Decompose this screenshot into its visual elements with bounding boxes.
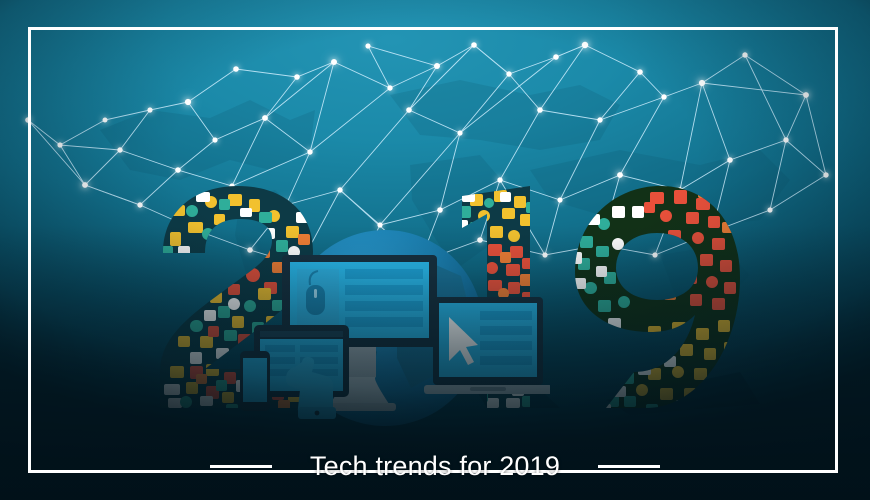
hand-pointer-icon (286, 357, 336, 419)
vignette-overlay (0, 0, 870, 500)
tablet-device (254, 325, 349, 397)
year-2019-icon-mosaic (0, 0, 870, 500)
globe-illustration (285, 228, 485, 428)
caption-rule-right (598, 465, 660, 468)
decorative-border-frame (28, 27, 838, 473)
caption-rule-left (210, 465, 272, 468)
tech-trends-banner: Tech trends for 2019 (0, 0, 870, 500)
caption-bar: Tech trends for 2019 (0, 446, 870, 486)
laptop-device (424, 297, 550, 394)
network-constellation (0, 0, 870, 320)
digit-2 (150, 180, 330, 415)
digit-1 (455, 180, 545, 415)
page-title: Tech trends for 2019 (310, 451, 560, 482)
desktop-monitor (282, 255, 437, 411)
mouse-icon (297, 269, 339, 331)
digit-9 (565, 180, 750, 420)
world-map-texture (60, 40, 820, 340)
devices-illustration (240, 255, 550, 435)
smartphone-device (240, 351, 270, 411)
cursor-arrow-icon (449, 317, 478, 365)
